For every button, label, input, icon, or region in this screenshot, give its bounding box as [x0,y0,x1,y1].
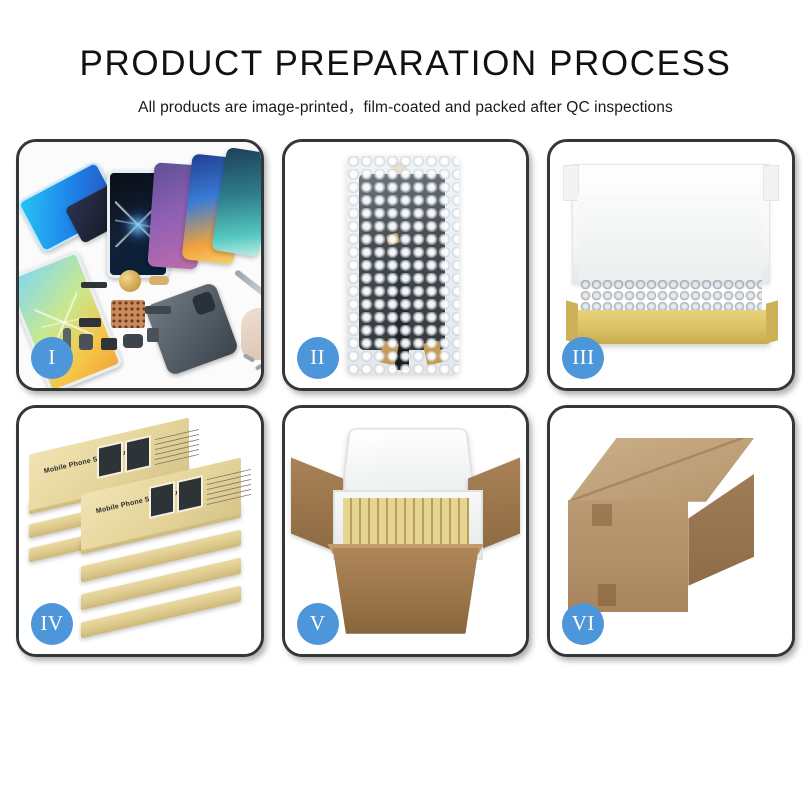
copper-coil-part [119,270,141,292]
carton-front-face [568,500,688,612]
page-title: PRODUCT PREPARATION PROCESS [0,46,811,83]
bubble-wrap-bag [347,156,459,374]
step-badge-6: VI [562,603,604,645]
foam-lid-open [340,428,475,497]
step-panel-4[interactable]: Mobile Phone Spare Parts Mobile Phone Sp… [16,405,264,657]
foam-insert [578,194,762,280]
product-preparation-infographic: PRODUCT PREPARATION PROCESS All products… [0,0,811,811]
step-panel-2[interactable]: II [282,139,530,391]
steps-grid: I II III [16,139,795,657]
small-part [79,334,93,350]
small-part [147,328,159,342]
small-part [81,282,107,288]
screw-part [255,361,261,370]
bubble-wrapped-contents [580,280,762,314]
small-part [145,306,171,314]
kraft-boxes-inside [343,498,469,548]
step-badge-2: II [297,337,339,379]
connector [423,340,443,365]
step-panel-6[interactable]: VI [547,405,795,657]
tape-mark [592,504,612,526]
header: PRODUCT PREPARATION PROCESS All products… [0,0,811,117]
connector [386,232,400,245]
page-subtitle: All products are image-printed，film-coat… [0,95,811,117]
kraft-tray-base [574,310,770,344]
carton-top-seam [568,438,754,502]
phone-screen-assembly [359,174,445,350]
tape-mark [598,584,616,606]
carton-body [323,548,489,634]
step-panel-5[interactable]: V [282,405,530,657]
step-panel-3[interactable]: III [547,139,795,391]
box-window-image [125,435,151,473]
step-badge-5: V [297,603,339,645]
step-badge-4: IV [31,603,73,645]
box-window-image [97,441,123,479]
flex-cable [395,248,409,370]
step-badge-3: III [562,337,604,379]
box-window-image [149,481,175,519]
small-part [101,338,117,350]
tweezers-icon [234,269,261,301]
box-window-image [177,475,203,513]
small-part [79,318,101,327]
bag-seal-tab [391,162,407,174]
chip-array-part [111,300,145,328]
small-part [123,334,143,348]
step-panel-1[interactable]: I [16,139,264,391]
hand [241,308,261,360]
step-badge-1: I [31,337,73,379]
small-part [149,276,169,285]
connector [379,340,399,365]
